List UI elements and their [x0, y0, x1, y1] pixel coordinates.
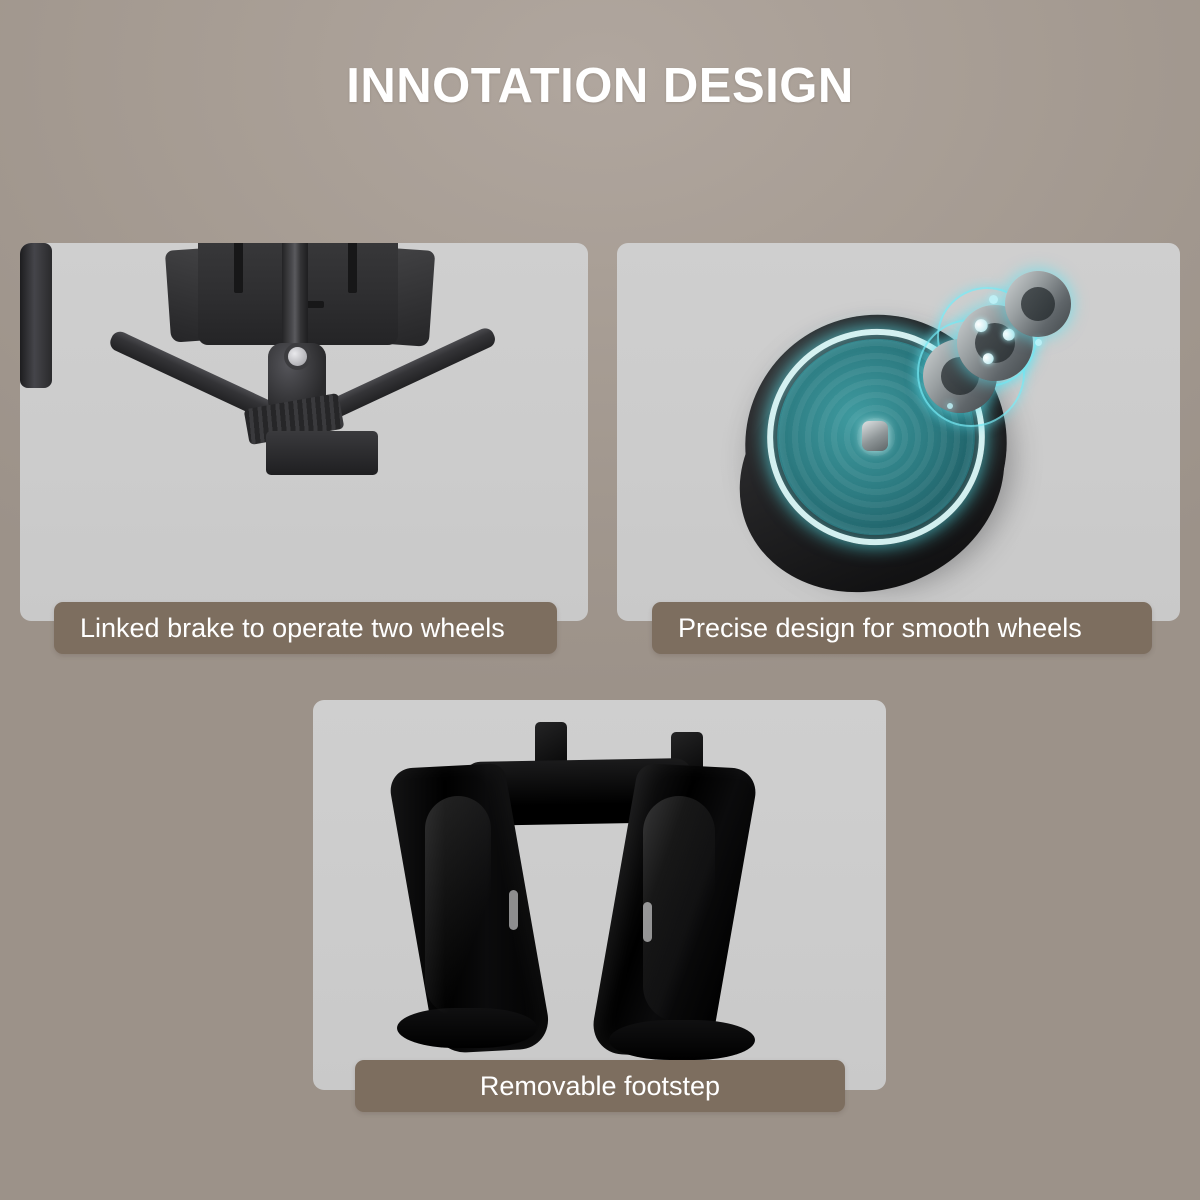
caption-bar-brake: Linked brake to operate two wheels [54, 602, 557, 654]
panel-card-wheel [617, 243, 1180, 621]
page-title: INNOTATION DESIGN [0, 58, 1200, 114]
exploded-wheel-render [617, 243, 1180, 621]
footstep-pad-right [609, 1020, 755, 1060]
glow-spark [947, 403, 953, 409]
caption-text-wheel: Precise design for smooth wheels [678, 613, 1082, 644]
panel-card-brake [20, 243, 588, 621]
caption-bar-footstep: Removable footstep [355, 1060, 845, 1112]
footstep-slot-left [509, 890, 518, 930]
glow-spark [1035, 339, 1042, 346]
harness-clip [266, 431, 378, 475]
caption-text-footstep: Removable footstep [480, 1071, 720, 1102]
caption-text-brake: Linked brake to operate two wheels [80, 613, 505, 644]
glow-spark [989, 295, 998, 304]
stroller-chassis-photo [20, 243, 588, 621]
caption-bar-wheel: Precise design for smooth wheels [652, 602, 1152, 654]
footstep-slot-right [643, 902, 652, 942]
frame-slot [348, 243, 357, 293]
panel-card-footstep [313, 700, 886, 1090]
frame-slot [234, 243, 243, 293]
footstep-photo [313, 700, 886, 1090]
footstep-pad-left [397, 1008, 537, 1048]
bearing-ring-inner-bore [1016, 282, 1061, 327]
wheel-axle-bolt [862, 421, 888, 451]
frame-leg-center [20, 243, 52, 388]
frame-joint-button [288, 347, 307, 366]
